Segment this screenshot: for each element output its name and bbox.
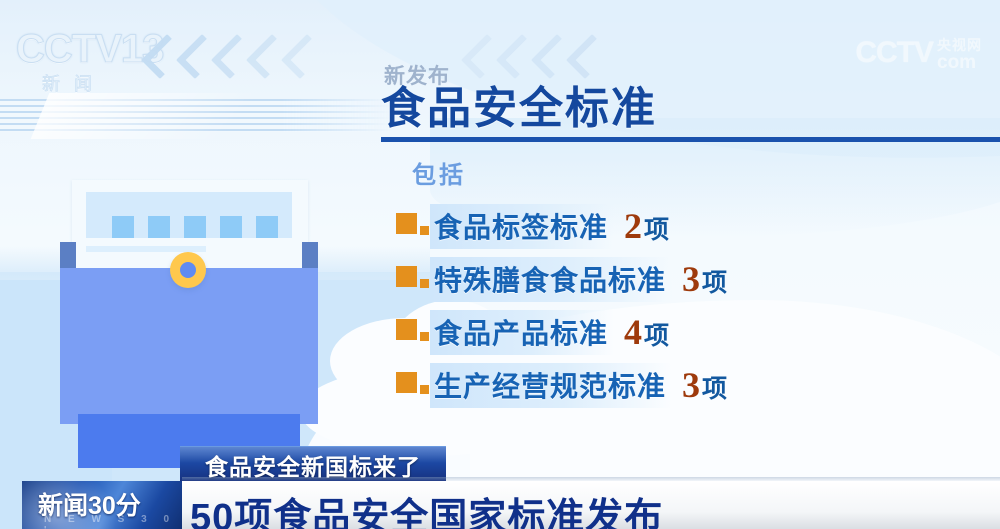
lower-third-headline-bar: 50项食品安全国家标准发布 xyxy=(182,481,1000,529)
list-item-unit: 项 xyxy=(644,316,669,352)
document-cell xyxy=(148,216,170,238)
bullet-square-icon xyxy=(396,213,430,241)
list-item-unit: 项 xyxy=(702,263,727,299)
program-logo: 新闻30分 N E W S 3 0 ' xyxy=(22,481,182,529)
bullet-square-icon xyxy=(396,266,430,294)
bullet-large-square-icon xyxy=(396,372,417,393)
decorative-stripes xyxy=(0,99,392,132)
bullet-small-square-icon xyxy=(420,332,429,341)
cctv-wordmark: CCTV xyxy=(16,27,121,71)
list-item-number: 3 xyxy=(682,261,700,297)
list-item-count: 3 项 xyxy=(682,367,727,405)
list-item-label: 食品标签标准 xyxy=(430,204,614,249)
bullet-small-square-icon xyxy=(420,279,429,288)
bullet-square-icon xyxy=(396,372,430,400)
list-item: 特殊膳食食品标准 3 项 xyxy=(396,253,996,306)
list-item-number: 3 xyxy=(682,367,700,403)
list-item: 食品产品标准 4 项 xyxy=(396,306,996,359)
list-item-unit: 项 xyxy=(644,210,669,246)
document-cell xyxy=(184,216,206,238)
document-band xyxy=(86,192,292,238)
kicker-sheen xyxy=(180,447,446,463)
document-cell xyxy=(112,216,134,238)
list-item-unit: 项 xyxy=(702,369,727,405)
list-item-count: 3 项 xyxy=(682,261,727,299)
lower-third-headline-text: 50项食品安全国家标准发布 xyxy=(190,486,663,529)
bullet-square-icon xyxy=(396,319,430,347)
chevron-decoration-left xyxy=(150,38,317,75)
list-item-count: 2 项 xyxy=(624,208,669,246)
list-item-label: 食品产品标准 xyxy=(430,310,614,355)
watermark-right-group: 央视网 com xyxy=(937,38,982,72)
envelope-clasp-icon xyxy=(170,252,206,288)
bullet-small-square-icon xyxy=(420,385,429,394)
bullet-large-square-icon xyxy=(396,266,417,287)
title-underline xyxy=(381,137,1000,142)
list-item: 生产经营规范标准 3 项 xyxy=(396,359,996,412)
document-cell xyxy=(256,216,278,238)
list-item-count: 4 项 xyxy=(624,314,669,352)
list-item-number: 2 xyxy=(624,208,642,244)
list-item-label: 生产经营规范标准 xyxy=(430,363,672,408)
graphic-title: 食品安全标准 xyxy=(381,84,657,134)
list-item-label: 特殊膳食食品标准 xyxy=(430,257,672,302)
standards-list: 食品标签标准 2 项 特殊膳食食品标准 3 项 食品产品标准 xyxy=(396,200,996,412)
watermark-brand: CCTV xyxy=(855,36,933,70)
list-item-number: 4 xyxy=(624,314,642,350)
envelope-fold-left xyxy=(60,242,76,270)
bullet-large-square-icon xyxy=(396,319,417,340)
watermark-domain: com xyxy=(937,53,982,72)
program-logo-english: N E W S 3 0 ' xyxy=(44,514,182,529)
document-cell xyxy=(220,216,242,238)
envelope-body xyxy=(60,268,318,424)
bullet-large-square-icon xyxy=(396,213,417,234)
envelope-document-illustration xyxy=(60,180,318,424)
watermark-chinese: 央视网 xyxy=(937,38,982,52)
cctv-com-watermark: CCTV 央视网 com xyxy=(855,36,982,72)
includes-label: 包括 xyxy=(412,155,466,190)
broadcast-screenshot: CCTV13 新闻 CCTV 央视网 com xyxy=(0,0,1000,529)
envelope-fold-right xyxy=(302,242,318,270)
chevron-decoration-right xyxy=(470,38,602,75)
bullet-small-square-icon xyxy=(420,226,429,235)
list-item: 食品标签标准 2 项 xyxy=(396,200,996,253)
